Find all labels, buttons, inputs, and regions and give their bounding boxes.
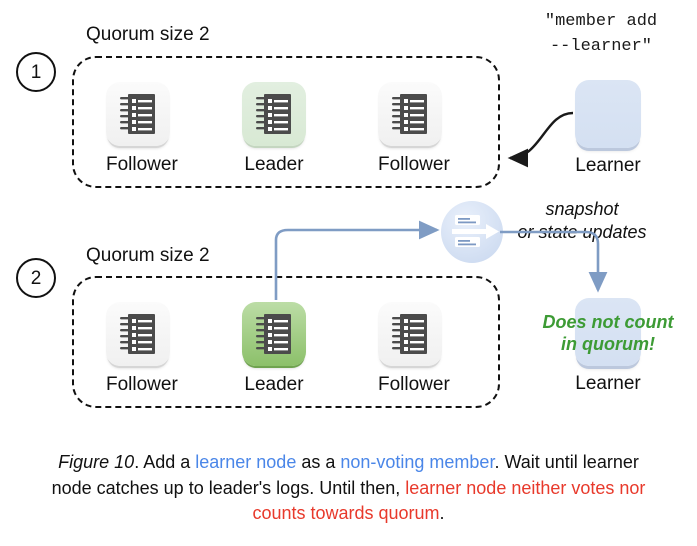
learner-node-step1: Learner [575,80,641,177]
caption-learner-node-1: learner node [195,452,296,472]
log-notebook-icon [119,92,157,136]
caption-text-4: . [440,503,445,523]
caption-text-2: as a [296,452,340,472]
caption-text-1: . Add a [134,452,195,472]
node-leader-step1: Leader [242,82,306,176]
node-label: Follower [106,154,170,176]
step-number-2-label: 2 [31,269,42,288]
caption-non-voting-member: non-voting member [340,452,494,472]
figure-caption: Figure 10. Add a learner node as a non-v… [40,450,657,527]
node-tile [106,302,170,366]
node-label: Leader [242,374,306,396]
log-notebook-icon [255,312,293,356]
node-leader-step2: Leader [242,302,306,396]
node-label: Follower [378,154,442,176]
log-notebook-icon [391,92,429,136]
log-notebook-icon [255,92,293,136]
node-tile [242,302,306,366]
step-number-1: 1 [16,52,56,92]
step-number-2: 2 [16,258,56,298]
node-tile [106,82,170,146]
node-follower-step2-left: Follower [106,302,170,396]
node-tile [242,82,306,146]
node-label: Leader [242,154,306,176]
node-tile [378,302,442,366]
quorum-label-step1: Quorum size 2 [86,24,210,46]
learner-label: Learner [575,373,641,395]
node-label: Follower [106,374,170,396]
member-add-command-text: "member add --learner" [512,10,690,59]
log-notebook-icon [119,312,157,356]
learner-box [575,80,641,148]
node-follower-step2-right: Follower [378,302,442,396]
step-number-1-label: 1 [31,63,42,82]
log-notebook-icon [391,312,429,356]
does-not-count-annotation: Does not count in quorum! [524,312,692,356]
learner-label: Learner [575,155,641,177]
node-follower-step1-left: Follower [106,82,170,176]
node-label: Follower [378,374,442,396]
figure-number: Figure 10 [58,452,134,472]
figure-canvas: 1 Quorum size 2 [0,0,697,546]
node-tile [378,82,442,146]
learner-join-arrow [510,113,573,158]
quorum-label-step2: Quorum size 2 [86,245,210,267]
node-follower-step1-right: Follower [378,82,442,176]
snapshot-transfer-label: snapshot or state updates [487,198,677,243]
